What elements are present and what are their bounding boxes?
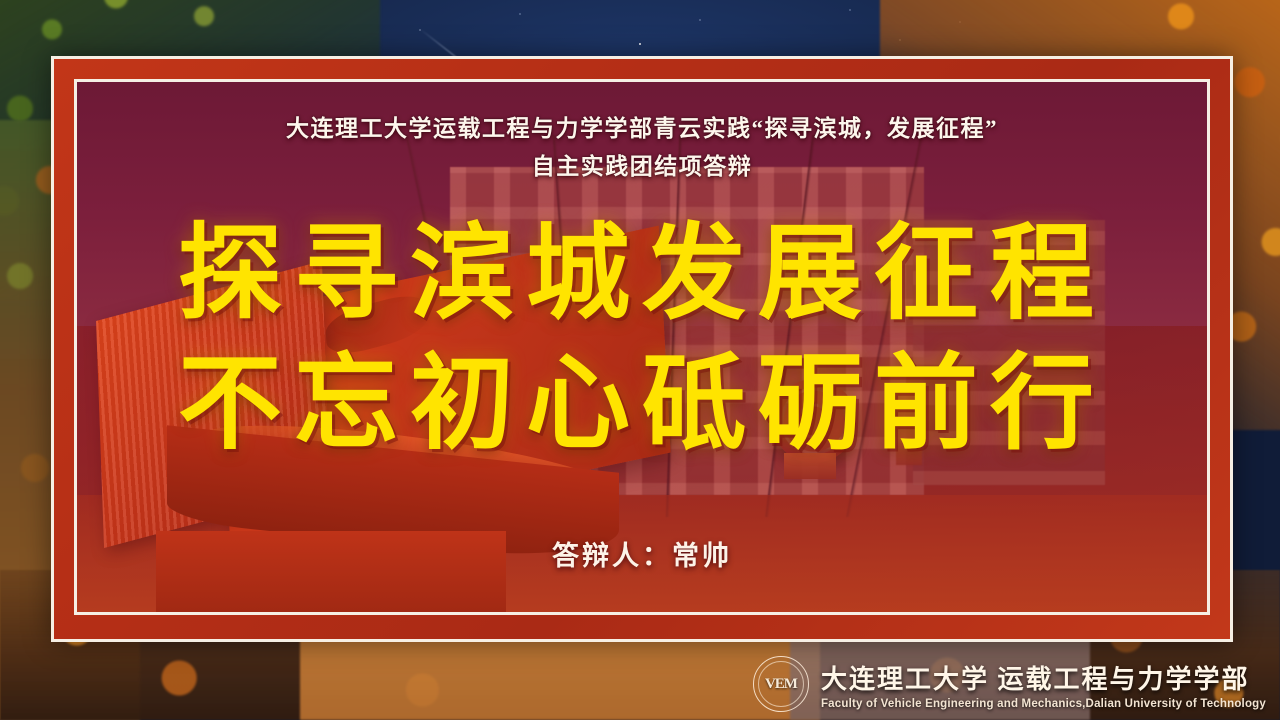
title-line-2: 不忘初心砥砺前行: [77, 340, 1207, 470]
footer-branding: VEM 大连理工大学 运载工程与力学学部 Faculty of Vehicle …: [753, 656, 1266, 712]
title-line-1: 探寻滨城发展征程: [77, 210, 1207, 340]
outer-frame: 大连理工大学运载工程与力学学部青云实践“探寻滨城，发展征程” 自主实践团结项答辩…: [51, 56, 1233, 642]
main-title: 探寻滨城发展征程 不忘初心砥砺前行: [77, 210, 1207, 470]
event-subtitle: 大连理工大学运载工程与力学学部青云实践“探寻滨城，发展征程” 自主实践团结项答辩: [77, 110, 1207, 186]
slide-content: 大连理工大学运载工程与力学学部青云实践“探寻滨城，发展征程” 自主实践团结项答辩…: [77, 82, 1207, 612]
seal-monogram-text: VEM: [765, 676, 797, 693]
presenter-name: 答辩人：常帅: [77, 534, 1207, 573]
inner-frame: 大连理工大学运载工程与力学学部青云实践“探寻滨城，发展征程” 自主实践团结项答辩…: [74, 79, 1210, 615]
footer-org-name-en: Faculty of Vehicle Engineering and Mecha…: [821, 698, 1266, 710]
presentation-slide: 大连理工大学运载工程与力学学部青云实践“探寻滨城，发展征程” 自主实践团结项答辩…: [0, 0, 1280, 720]
footer-text-group: 大连理工大学 运载工程与力学学部 Faculty of Vehicle Engi…: [821, 659, 1266, 710]
footer-org-name-cn: 大连理工大学 运载工程与力学学部: [821, 659, 1266, 696]
university-seal-icon: VEM: [753, 656, 809, 712]
